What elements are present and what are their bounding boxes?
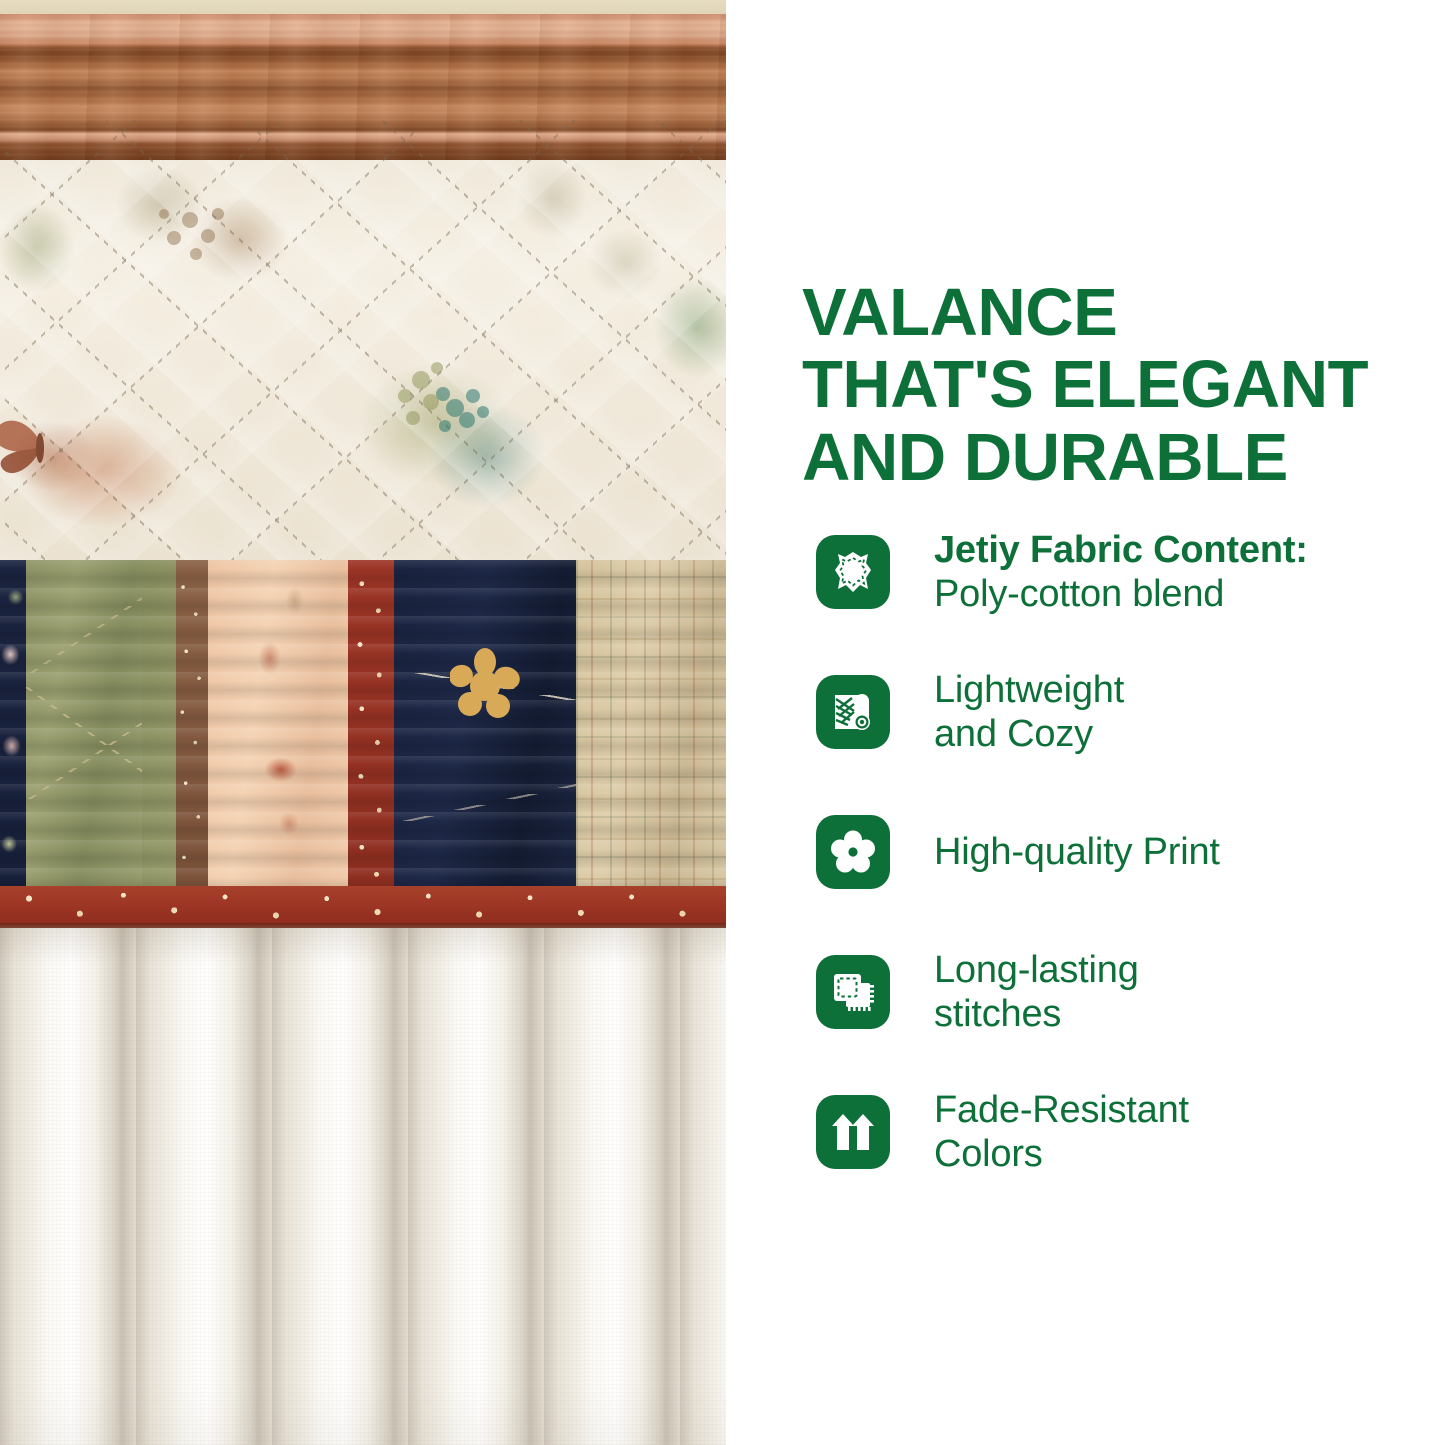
feature-label-bold: Jetiy Fabric Content: [934,528,1308,572]
feature-label-line-1: High-quality Print [934,830,1220,874]
headline-line-3: AND DURABLE [802,422,1422,494]
double-up-arrow-icon [816,1095,890,1169]
fabric-roll-icon [816,675,890,749]
wall-strip [0,0,726,14]
butterfly-motif-icon [0,396,102,492]
feature-label-line-1: Fade-Resistant [934,1088,1189,1132]
patch-olive-green-narrow [142,560,176,898]
headline-line-1: VALANCE [802,277,1422,349]
patch-red-floral-strip [348,560,394,898]
page-title: VALANCE THAT'S ELEGANT AND DURABLE [802,277,1422,494]
stacked-fabric-stitches-icon [816,955,890,1029]
product-photo [0,0,726,1445]
gold-flower-motif-icon [450,648,520,722]
feature-label-line-2: and Cozy [934,712,1124,756]
feature-label-line-2: stitches [934,992,1139,1036]
patch-olive-green [26,560,142,898]
feature-label-print: High-quality Print [934,830,1220,874]
patch-tan-plaid [576,560,726,898]
navy-patch-stitching [394,560,576,898]
quilted-cream-panel [0,160,726,560]
patch-floral-border-strip [176,560,208,898]
feature-item-lightweight: Lightweight and Cozy [816,664,1436,760]
feature-item-fade-resistant: Fade-Resistant Colors [816,1084,1436,1180]
feature-list: Jetiy Fabric Content: Poly-cotton blend [816,524,1436,1180]
feature-label-stitches: Long-lasting stitches [934,948,1139,1036]
feature-label-lightweight: Lightweight and Cozy [934,668,1124,756]
infographic-canvas: VALANCE THAT'S ELEGANT AND DURABLE Jetiy… [0,0,1445,1445]
feature-label-line-1: Lightweight [934,668,1124,712]
patch-peach-floral [208,560,348,898]
headline-line-2: THAT'S ELEGANT [802,349,1422,421]
patchwork-strip [0,560,726,898]
feature-label-fabric-content: Jetiy Fabric Content: Poly-cotton blend [934,528,1308,616]
feature-item-print: High-quality Print [816,804,1436,900]
feature-item-stitches: Long-lasting stitches [816,944,1436,1040]
feature-label-fade-resistant: Fade-Resistant Colors [934,1088,1189,1176]
patch-navy-floral [0,560,26,898]
leather-hide-icon [816,535,890,609]
feature-label-line-2: Colors [934,1132,1189,1176]
flower-icon [816,815,890,889]
feature-item-fabric-content: Jetiy Fabric Content: Poly-cotton blend [816,524,1436,620]
botanical-spray-motif-icon [385,348,555,498]
content-panel: VALANCE THAT'S ELEGANT AND DURABLE Jetiy… [726,0,1445,1445]
linen-curtain [0,928,726,1445]
olive-patch-stitching [26,560,142,898]
branch-motif-icon [130,180,280,320]
feature-label-line-1: Long-lasting [934,948,1139,992]
patch-navy-gold-flower [394,560,576,898]
quilt-diamond-stitching [0,120,726,600]
feature-label-sub: Poly-cotton blend [934,572,1308,616]
